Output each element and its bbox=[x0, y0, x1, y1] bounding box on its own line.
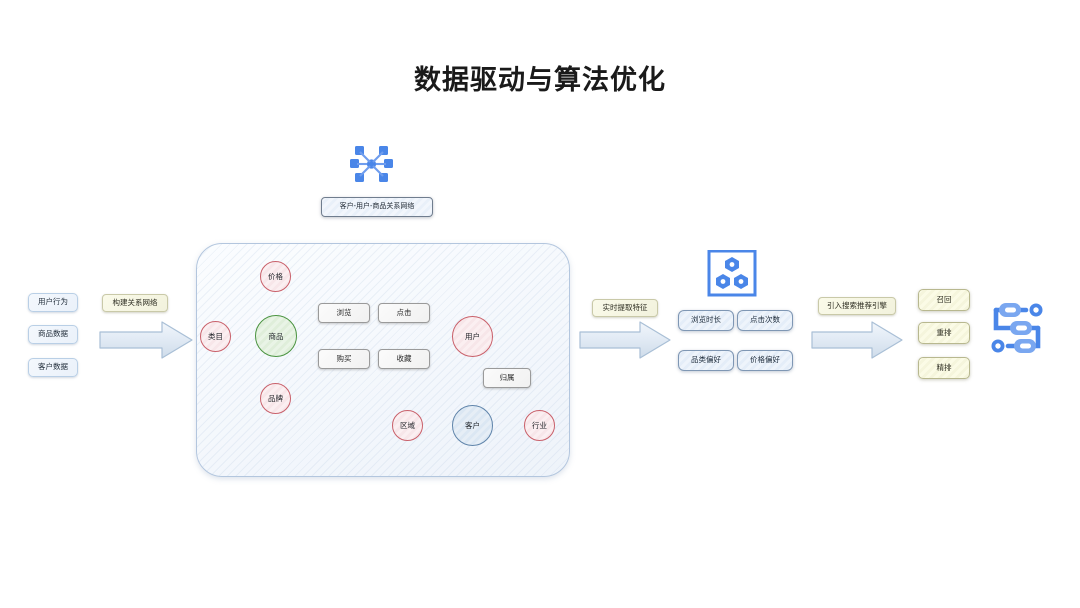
feature-label: 浏览时长 bbox=[691, 316, 721, 324]
ranking-chip-1[interactable]: 重排 bbox=[918, 322, 970, 344]
source-label: 用户行为 bbox=[38, 298, 68, 306]
relation-label: 收藏 bbox=[397, 355, 412, 363]
source-label: 客户数据 bbox=[38, 363, 68, 371]
arrow-sources-to-network bbox=[100, 322, 192, 358]
network-caption-chip[interactable]: 客户-用户-商品关系网络 bbox=[321, 197, 433, 217]
source-chip-0[interactable]: 用户行为 bbox=[28, 293, 78, 312]
arrow-network-to-features bbox=[580, 322, 670, 358]
node-label: 品牌 bbox=[268, 393, 283, 404]
network-caption-text: 客户-用户-商品关系网络 bbox=[340, 203, 415, 211]
node-label: 类目 bbox=[208, 331, 223, 342]
relation-label: 浏览 bbox=[337, 309, 352, 317]
relation-chip-favor[interactable]: 收藏 bbox=[378, 349, 430, 369]
network-graph-icon bbox=[348, 143, 396, 185]
node-label: 用户 bbox=[465, 331, 480, 342]
node-label: 区域 bbox=[400, 420, 415, 431]
relation-chip-buy[interactable]: 购买 bbox=[318, 349, 370, 369]
graph-node-customer[interactable]: 客户 bbox=[452, 405, 493, 446]
step-label-text: 引入搜索推荐引擎 bbox=[827, 302, 887, 310]
source-label: 商品数据 bbox=[38, 330, 68, 338]
graph-node-industry[interactable]: 行业 bbox=[524, 410, 555, 441]
node-label: 商品 bbox=[269, 331, 284, 342]
step-label-text: 实时提取特征 bbox=[603, 304, 648, 312]
source-chip-1[interactable]: 商品数据 bbox=[28, 325, 78, 344]
step-label-text: 构建关系网络 bbox=[113, 299, 158, 307]
relation-chip-belong[interactable]: 归属 bbox=[483, 368, 531, 388]
feature-chip-2[interactable]: 品类偏好 bbox=[678, 350, 734, 371]
feature-label: 点击次数 bbox=[750, 316, 780, 324]
diagram-canvas: 数据驱动与算法优化 bbox=[0, 0, 1080, 608]
node-label: 价格 bbox=[268, 271, 283, 282]
ranking-label: 重排 bbox=[937, 329, 952, 337]
graph-node-product[interactable]: 商品 bbox=[255, 315, 297, 357]
graph-node-brand[interactable]: 品牌 bbox=[260, 383, 291, 414]
feature-label: 品类偏好 bbox=[691, 356, 721, 364]
step-label-search-engine[interactable]: 引入搜索推荐引擎 bbox=[818, 297, 896, 315]
relation-chip-click[interactable]: 点击 bbox=[378, 303, 430, 323]
graph-node-category[interactable]: 类目 bbox=[200, 321, 231, 352]
graph-node-region[interactable]: 区域 bbox=[392, 410, 423, 441]
relation-label: 归属 bbox=[500, 374, 515, 382]
feature-label: 价格偏好 bbox=[750, 356, 780, 364]
source-chip-2[interactable]: 客户数据 bbox=[28, 358, 78, 377]
relation-label: 点击 bbox=[397, 309, 412, 317]
feature-chip-1[interactable]: 点击次数 bbox=[737, 310, 793, 331]
relation-label: 购买 bbox=[337, 355, 352, 363]
arrow-features-to-ranking bbox=[812, 322, 902, 358]
ranking-chip-0[interactable]: 召回 bbox=[918, 289, 970, 311]
data-cubes-icon bbox=[706, 250, 758, 298]
graph-node-user[interactable]: 用户 bbox=[452, 316, 493, 357]
pipeline-flow-icon bbox=[986, 297, 1048, 359]
step-label-build-network[interactable]: 构建关系网络 bbox=[102, 294, 168, 312]
ranking-chip-2[interactable]: 精排 bbox=[918, 357, 970, 379]
step-label-extract-features[interactable]: 实时提取特征 bbox=[592, 299, 658, 317]
ranking-label: 召回 bbox=[937, 296, 952, 304]
ranking-label: 精排 bbox=[937, 364, 952, 372]
feature-chip-3[interactable]: 价格偏好 bbox=[737, 350, 793, 371]
feature-chip-0[interactable]: 浏览时长 bbox=[678, 310, 734, 331]
node-label: 行业 bbox=[532, 420, 547, 431]
node-label: 客户 bbox=[465, 420, 480, 431]
graph-node-price[interactable]: 价格 bbox=[260, 261, 291, 292]
relation-chip-browse[interactable]: 浏览 bbox=[318, 303, 370, 323]
